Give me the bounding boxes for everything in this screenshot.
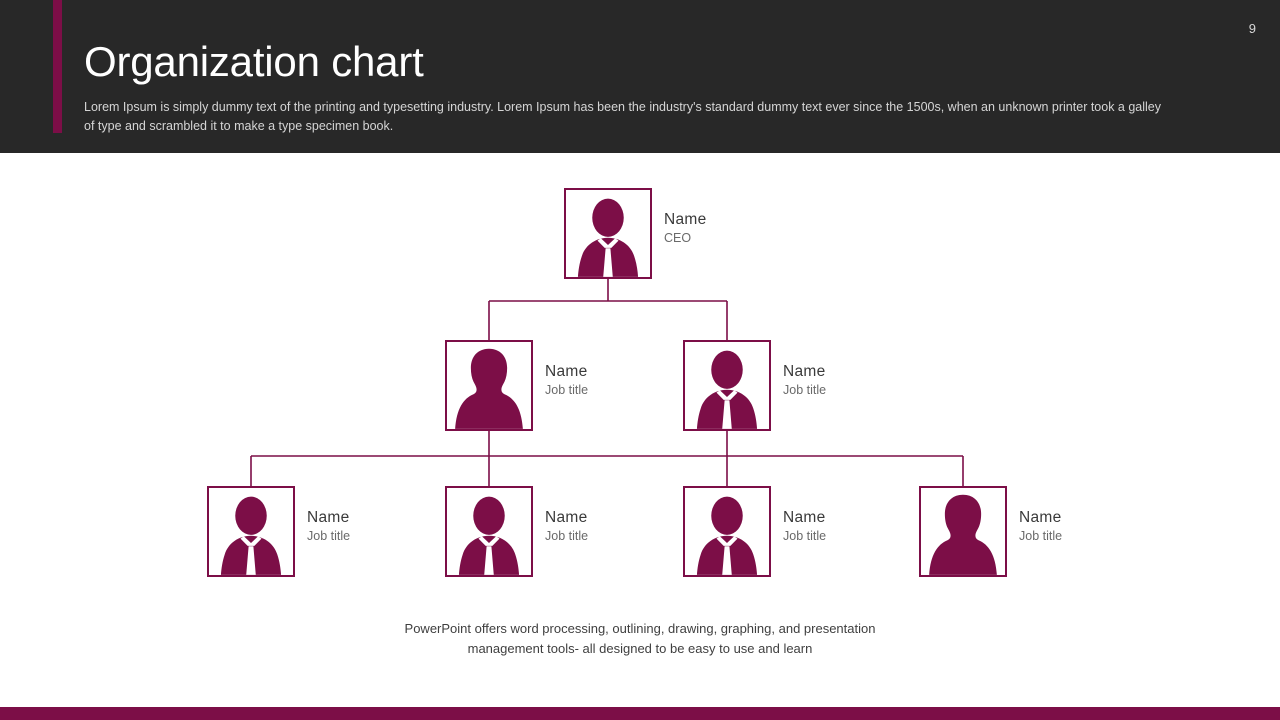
caption-line-2: management tools- all designed to be eas… — [0, 639, 1280, 659]
node-name: Name — [783, 362, 826, 381]
node-name: Name — [783, 508, 826, 527]
node-role: Job title — [545, 528, 588, 545]
male-silhouette-icon — [685, 488, 769, 575]
node-role: Job title — [783, 382, 826, 399]
org-node-l2-1[interactable]: Name Job title — [445, 340, 588, 431]
node-role: Job title — [307, 528, 350, 545]
node-name: Name — [307, 508, 350, 527]
slide-header: 9 Organization chart Lorem Ipsum is simp… — [0, 0, 1280, 153]
node-text: Name Job title — [1019, 486, 1062, 545]
node-text: Name Job title — [307, 486, 350, 545]
node-text: Name Job title — [545, 486, 588, 545]
node-role: CEO — [664, 230, 707, 247]
male-silhouette-icon — [447, 488, 531, 575]
node-text: Name Job title — [783, 486, 826, 545]
org-node-l3-1[interactable]: Name Job title — [207, 486, 350, 577]
node-text: Name Job title — [545, 340, 588, 399]
org-node-l3-2[interactable]: Name Job title — [445, 486, 588, 577]
node-text: Name CEO — [664, 188, 707, 247]
female-silhouette-icon — [921, 488, 1005, 575]
avatar — [683, 486, 771, 577]
org-node-l3-4[interactable]: Name Job title — [919, 486, 1062, 577]
avatar — [445, 486, 533, 577]
node-role: Job title — [783, 528, 826, 545]
caption-line-1: PowerPoint offers word processing, outli… — [0, 619, 1280, 639]
page-subtitle: Lorem Ipsum is simply dummy text of the … — [84, 98, 1174, 136]
avatar — [919, 486, 1007, 577]
avatar — [683, 340, 771, 431]
female-silhouette-icon — [447, 342, 531, 429]
avatar — [207, 486, 295, 577]
node-name: Name — [545, 362, 588, 381]
avatar — [564, 188, 652, 279]
node-name: Name — [1019, 508, 1062, 527]
org-node-l2-2[interactable]: Name Job title — [683, 340, 826, 431]
male-silhouette-icon — [685, 342, 769, 429]
avatar — [445, 340, 533, 431]
org-node-ceo[interactable]: Name CEO — [564, 188, 707, 279]
chart-caption: PowerPoint offers word processing, outli… — [0, 619, 1280, 659]
footer-accent-bar — [0, 707, 1280, 720]
node-role: Job title — [545, 382, 588, 399]
page-number: 9 — [1249, 22, 1256, 35]
header-accent-bar — [53, 0, 62, 133]
node-text: Name Job title — [783, 340, 826, 399]
node-name: Name — [664, 210, 707, 229]
page-title: Organization chart — [84, 36, 424, 88]
male-silhouette-icon — [209, 488, 293, 575]
node-role: Job title — [1019, 528, 1062, 545]
male-silhouette-icon — [566, 190, 650, 277]
node-name: Name — [545, 508, 588, 527]
org-node-l3-3[interactable]: Name Job title — [683, 486, 826, 577]
